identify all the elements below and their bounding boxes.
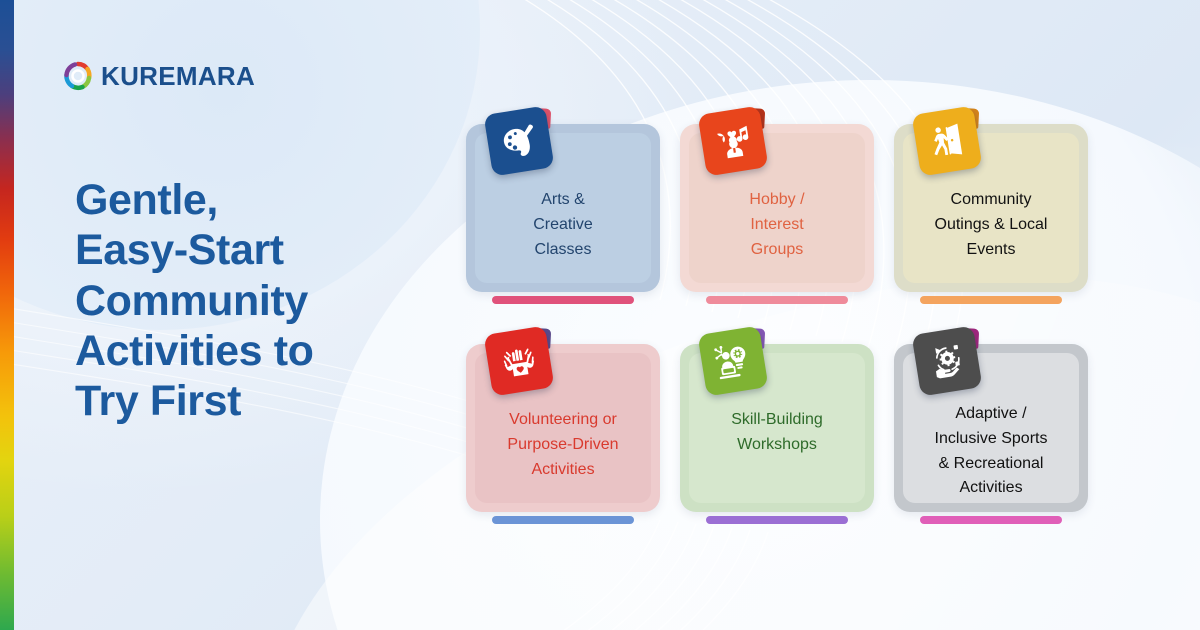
card-accent-bar	[706, 516, 848, 524]
swirl-circle-icon	[62, 60, 94, 92]
card-icon-badge	[484, 106, 555, 177]
person-heart-music-icon	[698, 106, 769, 177]
card-label: Hobby / Interest Groups	[690, 188, 864, 262]
card-accent-bar	[706, 296, 848, 304]
brand-logo[interactable]: KUREMARA	[62, 60, 255, 92]
raised-hands-heart-icon	[484, 326, 555, 397]
activity-card[interactable]: Skill-Building Workshops	[680, 330, 874, 530]
card-label: Adaptive / Inclusive Sports & Recreation…	[904, 402, 1078, 501]
card-label: Arts & Creative Classes	[476, 188, 650, 262]
card-icon-badge	[698, 106, 769, 177]
card-icon-badge	[912, 326, 983, 397]
activity-card[interactable]: Volunteering or Purpose-Driven Activitie…	[466, 330, 660, 530]
activity-card[interactable]: Adaptive / Inclusive Sports & Recreation…	[894, 330, 1088, 530]
activity-card[interactable]: Community Outings & Local Events	[894, 110, 1088, 310]
card-accent-bar	[920, 516, 1062, 524]
card-accent-bar	[492, 296, 634, 304]
activity-card-grid: Arts & Creative Classes	[466, 110, 1092, 530]
person-lightbulb-gear-icon	[698, 326, 769, 397]
card-label: Community Outings & Local Events	[904, 188, 1078, 262]
hand-holding-gear-icon	[912, 326, 983, 397]
card-accent-bar	[920, 296, 1062, 304]
rainbow-gradient-strip	[0, 0, 14, 630]
activity-card[interactable]: Hobby / Interest Groups	[680, 110, 874, 310]
person-walking-door-icon	[912, 106, 983, 177]
card-label: Volunteering or Purpose-Driven Activitie…	[476, 408, 650, 482]
card-icon-badge	[698, 326, 769, 397]
paint-palette-icon	[484, 106, 555, 177]
card-label: Skill-Building Workshops	[690, 408, 864, 458]
card-icon-badge	[912, 106, 983, 177]
card-icon-badge	[484, 326, 555, 397]
page-title: Gentle, Easy-Start Community Activities …	[75, 175, 455, 426]
activity-card[interactable]: Arts & Creative Classes	[466, 110, 660, 310]
card-accent-bar	[492, 516, 634, 524]
brand-name: KUREMARA	[101, 61, 255, 92]
poster-canvas: KUREMARA Gentle, Easy-Start Community Ac…	[0, 0, 1200, 630]
